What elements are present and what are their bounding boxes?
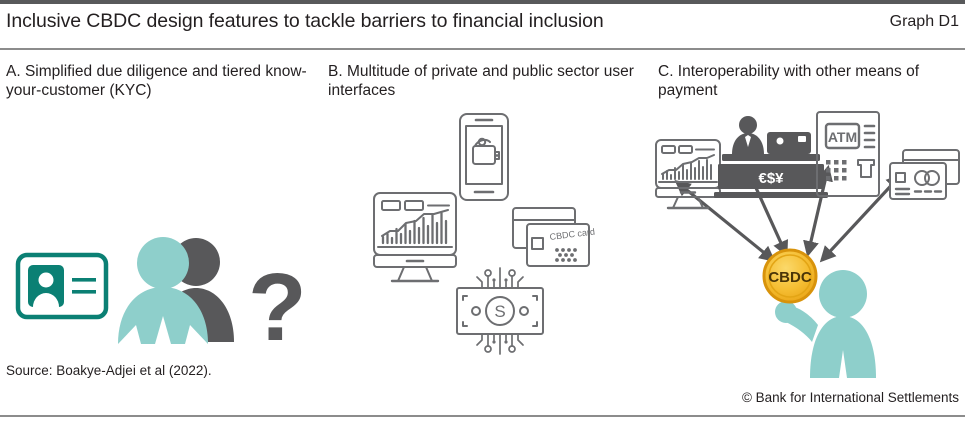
cbdc-coin-label: CBDC bbox=[768, 269, 811, 286]
arrow-cards bbox=[822, 176, 900, 260]
desktop-monitor-chart-icon bbox=[374, 193, 456, 281]
smartphone-wallet-icon bbox=[460, 114, 508, 200]
atm-icon: ATM bbox=[817, 112, 879, 196]
panels-row: A. Simplified due diligence and tiered k… bbox=[0, 52, 965, 382]
id-card-icon bbox=[18, 255, 106, 317]
question-mark-icon: ? bbox=[248, 254, 307, 361]
page-title: Inclusive CBDC design features to tackle… bbox=[6, 10, 604, 33]
panel-c-artwork: €$¥ ATM bbox=[650, 110, 965, 378]
panel-b-artwork: CBDC card S bbox=[322, 110, 647, 378]
digital-banknote-icon: S bbox=[457, 268, 543, 354]
banknote-symbol: S bbox=[494, 302, 505, 321]
svg-text:?: ? bbox=[248, 254, 307, 361]
payment-cards-icon bbox=[890, 150, 959, 199]
two-people-icon bbox=[118, 237, 234, 344]
atm-screen-label: ATM bbox=[828, 129, 857, 145]
panel-b: B. Multitude of private and public secto… bbox=[322, 52, 647, 382]
bottom-rule bbox=[0, 415, 965, 417]
graph-container: Inclusive CBDC design features to tackle… bbox=[0, 0, 965, 421]
panel-a-title: A. Simplified due diligence and tiered k… bbox=[6, 62, 316, 100]
cbdc-coin: CBDC bbox=[764, 250, 816, 302]
cbdc-card-icon: CBDC card bbox=[513, 208, 595, 266]
source-note: Source: Boakye-Adjei et al (2022). bbox=[6, 363, 212, 378]
panel-c-title: C. Interoperability with other means of … bbox=[658, 62, 961, 100]
panel-a: A. Simplified due diligence and tiered k… bbox=[0, 52, 320, 382]
copyright-note: © Bank for International Settlements bbox=[742, 390, 959, 405]
panel-b-title: B. Multitude of private and public secto… bbox=[328, 62, 643, 100]
teller-currency-label: €$¥ bbox=[758, 170, 784, 187]
desktop-monitor-icon bbox=[656, 140, 720, 208]
title-underline-rule bbox=[0, 48, 965, 50]
graph-number-label: Graph D1 bbox=[890, 13, 959, 31]
panel-a-artwork: ? bbox=[0, 110, 320, 378]
bank-teller-icon: €$¥ bbox=[714, 116, 828, 198]
graph-header: Inclusive CBDC design features to tackle… bbox=[0, 4, 965, 44]
panel-c: C. Interoperability with other means of … bbox=[650, 52, 965, 382]
